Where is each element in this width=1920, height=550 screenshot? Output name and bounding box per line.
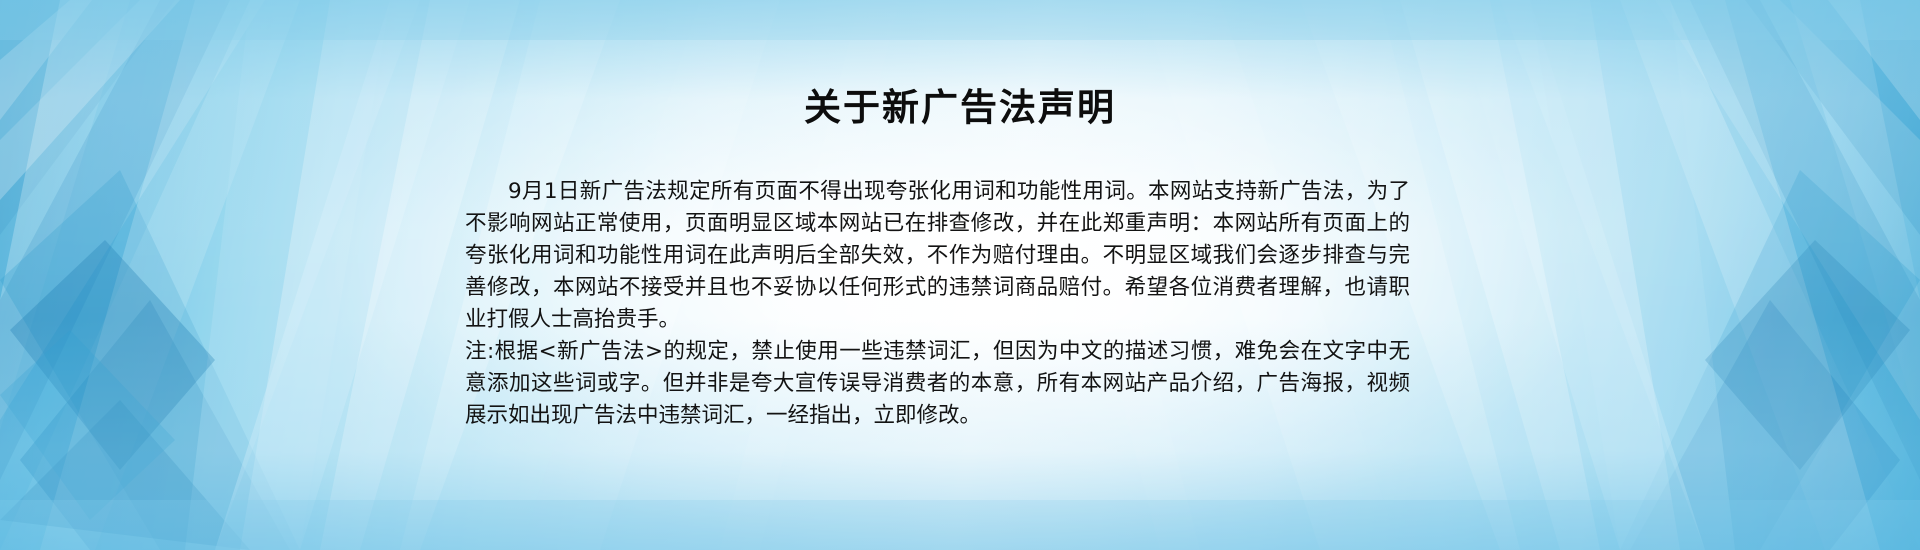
ad-law-statement-banner: 关于新广告法声明 9月1日新广告法规定所有页面不得出现夸张化用词和功能性用词。本… (0, 0, 1920, 550)
statement-paragraph-2: 注:根据<新广告法>的规定，禁止使用一些违禁词汇，但因为中文的描述习惯，难免会在… (465, 336, 1410, 432)
banner-content: 关于新广告法声明 9月1日新广告法规定所有页面不得出现夸张化用词和功能性用词。本… (0, 0, 1920, 550)
statement-body: 9月1日新广告法规定所有页面不得出现夸张化用词和功能性用词。本网站支持新广告法，… (465, 176, 1410, 432)
statement-paragraph-1: 9月1日新广告法规定所有页面不得出现夸张化用词和功能性用词。本网站支持新广告法，… (465, 176, 1410, 336)
page-title: 关于新广告法声明 (0, 86, 1920, 130)
